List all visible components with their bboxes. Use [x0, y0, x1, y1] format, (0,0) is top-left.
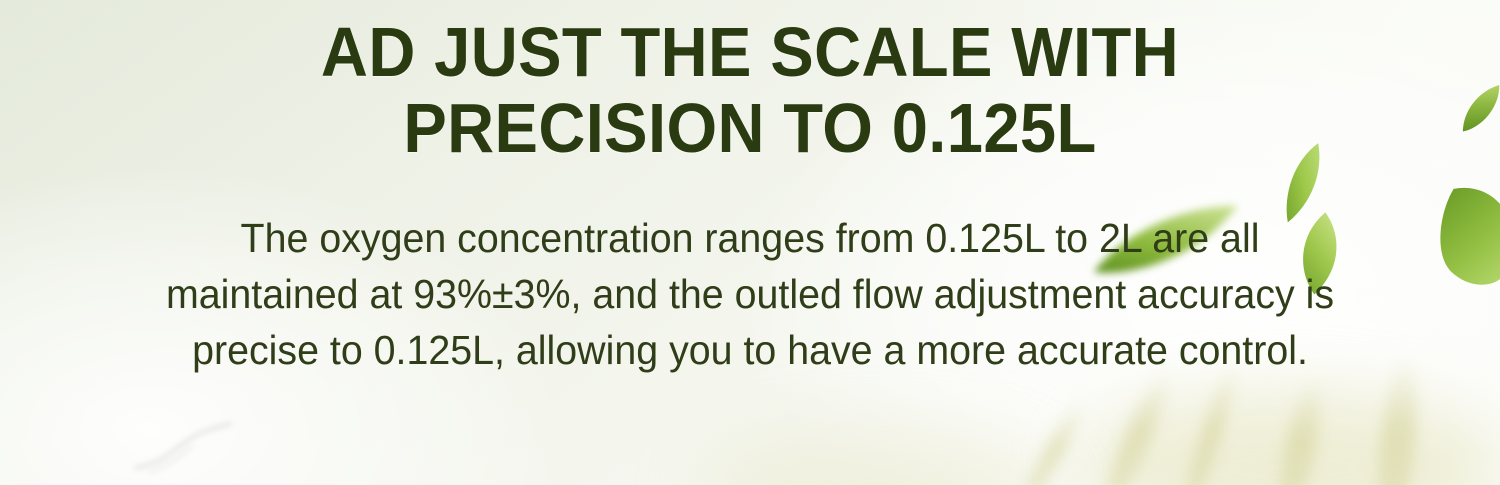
body-line-3: precise to 0.125L, allowing you to have …	[78, 322, 1422, 378]
banner-content: AD JUST THE SCALE WITH PRECISION TO 0.12…	[0, 0, 1500, 485]
headline-line-1: AD JUST THE SCALE WITH	[127, 14, 1373, 90]
promo-banner: AD JUST THE SCALE WITH PRECISION TO 0.12…	[0, 0, 1500, 485]
body-line-1: The oxygen concentration ranges from 0.1…	[78, 210, 1422, 266]
body-line-2: maintained at 93%±3%, and the outled flo…	[78, 266, 1422, 322]
page-title: AD JUST THE SCALE WITH PRECISION TO 0.12…	[127, 0, 1373, 166]
headline-line-2: PRECISION TO 0.125L	[127, 90, 1373, 166]
body-paragraph: The oxygen concentration ranges from 0.1…	[78, 166, 1422, 378]
